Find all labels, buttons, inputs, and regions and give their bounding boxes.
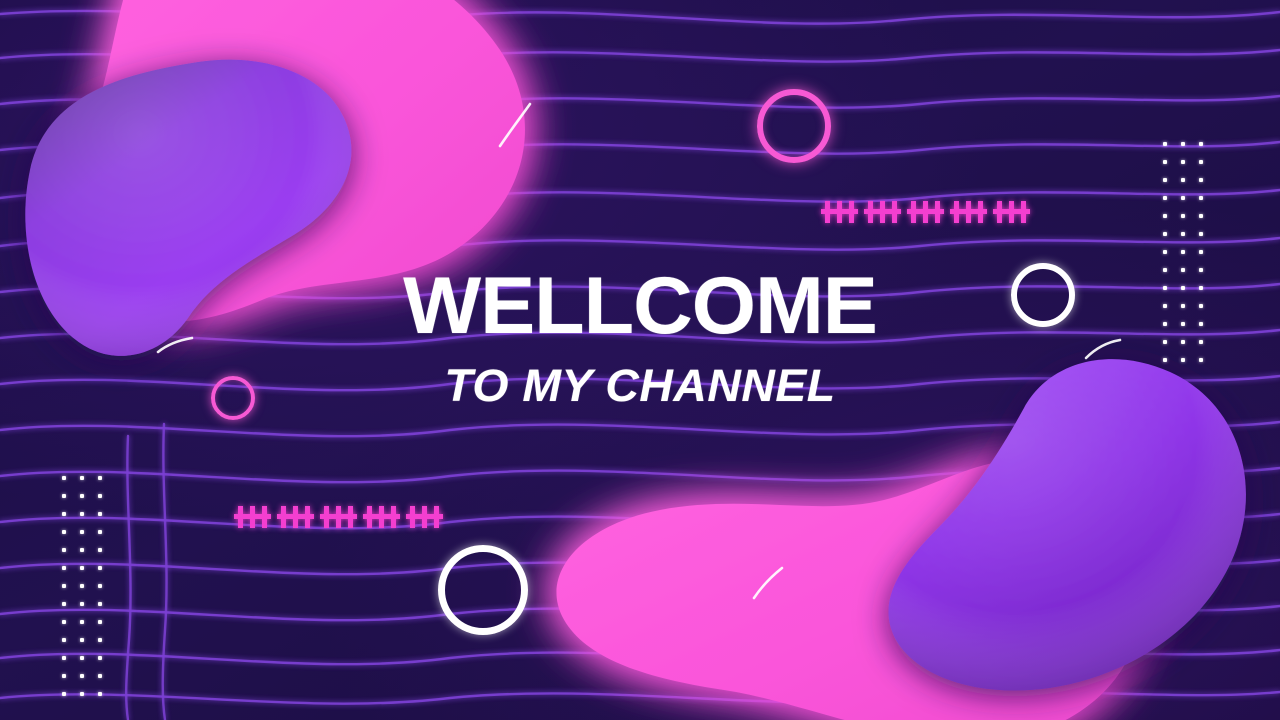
tally-group — [237, 506, 269, 528]
ring-pink-top-icon — [757, 89, 831, 163]
grid-dot — [1163, 286, 1167, 290]
grid-dot — [1199, 142, 1203, 146]
grid-dot — [1199, 358, 1203, 362]
grid-dot — [62, 620, 66, 624]
grid-dot — [62, 476, 66, 480]
blob-decoration-layer — [0, 0, 1280, 720]
grid-dot — [1181, 250, 1185, 254]
grid-dot — [80, 530, 84, 534]
grid-dot — [80, 674, 84, 678]
arc-accent-right — [1086, 340, 1120, 358]
grid-dot — [80, 638, 84, 642]
grid-dot — [62, 674, 66, 678]
dot-grid-right — [1163, 142, 1217, 376]
grid-dot — [98, 638, 102, 642]
grid-dot — [1163, 340, 1167, 344]
grid-dot — [62, 638, 66, 642]
tally-row-left — [237, 506, 441, 528]
grid-dot — [1199, 178, 1203, 182]
grid-dot — [80, 476, 84, 480]
ring-white-bottom-icon — [438, 545, 528, 635]
grid-dot — [1163, 178, 1167, 182]
poster-canvas: WELLCOME TO MY CHANNEL — [0, 0, 1280, 720]
grid-dot — [98, 620, 102, 624]
grid-dot — [98, 656, 102, 660]
grid-dot — [1181, 196, 1185, 200]
grid-dot — [1199, 232, 1203, 236]
grid-dot — [98, 476, 102, 480]
grid-dot — [1199, 286, 1203, 290]
grid-dot — [1181, 286, 1185, 290]
grid-dot — [98, 566, 102, 570]
tally-group — [953, 201, 985, 223]
grid-dot — [1181, 232, 1185, 236]
grid-dot — [1181, 268, 1185, 272]
grid-dot — [1181, 304, 1185, 308]
grid-dot — [1163, 358, 1167, 362]
grid-dot — [62, 548, 66, 552]
grid-dot — [98, 494, 102, 498]
grid-dot — [62, 566, 66, 570]
grid-dot — [1181, 358, 1185, 362]
tally-group — [409, 506, 441, 528]
grid-dot — [1181, 340, 1185, 344]
grid-dot — [62, 512, 66, 516]
grid-dot — [1199, 214, 1203, 218]
grid-dot — [80, 656, 84, 660]
grid-dot — [62, 656, 66, 660]
grid-dot — [98, 602, 102, 606]
grid-dot — [62, 530, 66, 534]
grid-dot — [80, 512, 84, 516]
grid-dot — [1199, 196, 1203, 200]
grid-dot — [80, 584, 84, 588]
grid-dot — [98, 530, 102, 534]
grid-dot — [1163, 268, 1167, 272]
ring-pink-left-icon — [211, 376, 255, 420]
grid-dot — [1199, 160, 1203, 164]
grid-dot — [80, 602, 84, 606]
tally-group — [366, 506, 398, 528]
grid-dot — [1199, 268, 1203, 272]
grid-dot — [80, 494, 84, 498]
grid-dot — [1163, 304, 1167, 308]
grid-dot — [1181, 160, 1185, 164]
grid-dot — [1181, 322, 1185, 326]
grid-dot — [80, 566, 84, 570]
tally-group — [323, 506, 355, 528]
tally-group — [910, 201, 942, 223]
grid-dot — [1199, 250, 1203, 254]
grid-dot — [1163, 142, 1167, 146]
ring-white-right-icon — [1011, 263, 1075, 327]
grid-dot — [1163, 196, 1167, 200]
blob-purple-top-left — [25, 60, 351, 356]
grid-dot — [98, 692, 102, 696]
grid-dot — [62, 494, 66, 498]
grid-dot — [1181, 214, 1185, 218]
grid-dot — [62, 692, 66, 696]
grid-dot — [1199, 322, 1203, 326]
grid-dot — [98, 548, 102, 552]
grid-dot — [1163, 322, 1167, 326]
tally-group — [996, 201, 1028, 223]
tally-group — [280, 506, 312, 528]
grid-dot — [1163, 214, 1167, 218]
grid-dot — [1163, 250, 1167, 254]
grid-dot — [98, 512, 102, 516]
grid-dot — [98, 674, 102, 678]
tally-group — [824, 201, 856, 223]
grid-dot — [1181, 142, 1185, 146]
tally-row-top — [824, 201, 1028, 223]
dot-grid-left — [62, 476, 116, 710]
blob-purple-bottom-right — [888, 359, 1245, 690]
grid-dot — [80, 692, 84, 696]
grid-dot — [1199, 340, 1203, 344]
grid-dot — [1163, 232, 1167, 236]
tally-group — [867, 201, 899, 223]
grid-dot — [80, 620, 84, 624]
grid-dot — [62, 584, 66, 588]
grid-dot — [98, 584, 102, 588]
grid-dot — [1181, 178, 1185, 182]
grid-dot — [1199, 304, 1203, 308]
grid-dot — [80, 548, 84, 552]
grid-dot — [62, 602, 66, 606]
grid-dot — [1163, 160, 1167, 164]
